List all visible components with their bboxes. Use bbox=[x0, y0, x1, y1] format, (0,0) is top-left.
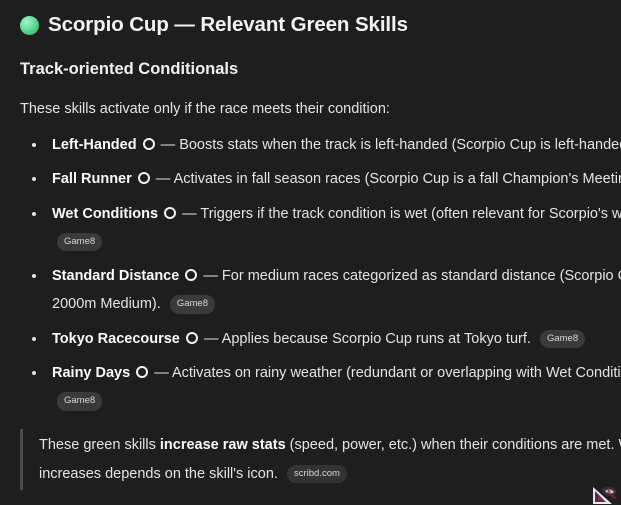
note-blockquote: These green skills increase raw stats (s… bbox=[20, 429, 621, 490]
skill-name: Left-Handed bbox=[52, 137, 137, 153]
source-badge[interactable]: Game8 bbox=[170, 295, 215, 314]
skill-dash: — bbox=[182, 206, 197, 222]
green-circle-icon bbox=[20, 16, 39, 35]
source-badge[interactable]: Game8 bbox=[540, 330, 585, 349]
list-item: Tokyo Racecourse — Applies because Scorp… bbox=[20, 325, 621, 353]
list-item: Standard Distance — For medium races cat… bbox=[20, 262, 621, 319]
skill-description: Applies because Scorpio Cup runs at Toky… bbox=[222, 331, 531, 347]
intro-paragraph: These skills activate only if the race m… bbox=[20, 99, 621, 120]
skill-ring-icon bbox=[185, 269, 197, 281]
skill-name: Tokyo Racecourse bbox=[52, 331, 180, 347]
skill-description: Triggers if the track condition is wet (… bbox=[200, 206, 621, 222]
skill-dash: — bbox=[161, 137, 176, 153]
page-title-text: Scorpio Cup — Relevant Green Skills bbox=[48, 12, 408, 39]
skill-dash: — bbox=[154, 365, 169, 381]
skill-name: Rainy Days bbox=[52, 365, 130, 381]
source-badge[interactable]: Game8 bbox=[57, 392, 102, 411]
skill-ring-icon bbox=[138, 172, 150, 184]
skill-dash: — bbox=[203, 268, 218, 284]
skill-description: Boosts stats when the track is left-hand… bbox=[179, 137, 621, 153]
skill-ring-icon bbox=[164, 207, 176, 219]
note-text-before: These green skills bbox=[39, 437, 160, 453]
skill-name: Standard Distance bbox=[52, 268, 179, 284]
note-emphasis: increase raw stats bbox=[160, 437, 286, 453]
list-item: Wet Conditions — Triggers if the track c… bbox=[20, 200, 621, 257]
skills-list: Left-Handed — Boosts stats when the trac… bbox=[20, 131, 621, 415]
document-body: Scorpio Cup — Relevant Green Skills Trac… bbox=[0, 0, 621, 490]
skill-ring-icon bbox=[136, 366, 148, 378]
section-heading: Track-oriented Conditionals bbox=[20, 59, 621, 80]
skill-ring-icon bbox=[143, 138, 155, 150]
skill-description: Activates on rainy weather (redundant or… bbox=[172, 365, 621, 381]
skill-name: Wet Conditions bbox=[52, 206, 158, 222]
page-title: Scorpio Cup — Relevant Green Skills bbox=[20, 12, 621, 39]
source-badge[interactable]: scribd.com bbox=[287, 465, 347, 484]
list-item: Fall Runner — Activates in fall season r… bbox=[20, 165, 621, 193]
list-item: Rainy Days — Activates on rainy weather … bbox=[20, 359, 621, 416]
source-badge[interactable]: Game8 bbox=[57, 233, 102, 252]
skill-name: Fall Runner bbox=[52, 171, 132, 187]
skill-dash: — bbox=[204, 331, 219, 347]
skill-ring-icon bbox=[186, 332, 198, 344]
list-item: Left-Handed — Boosts stats when the trac… bbox=[20, 131, 621, 159]
skill-description: Activates in fall season races (Scorpio … bbox=[174, 171, 621, 187]
skill-dash: — bbox=[156, 171, 171, 187]
